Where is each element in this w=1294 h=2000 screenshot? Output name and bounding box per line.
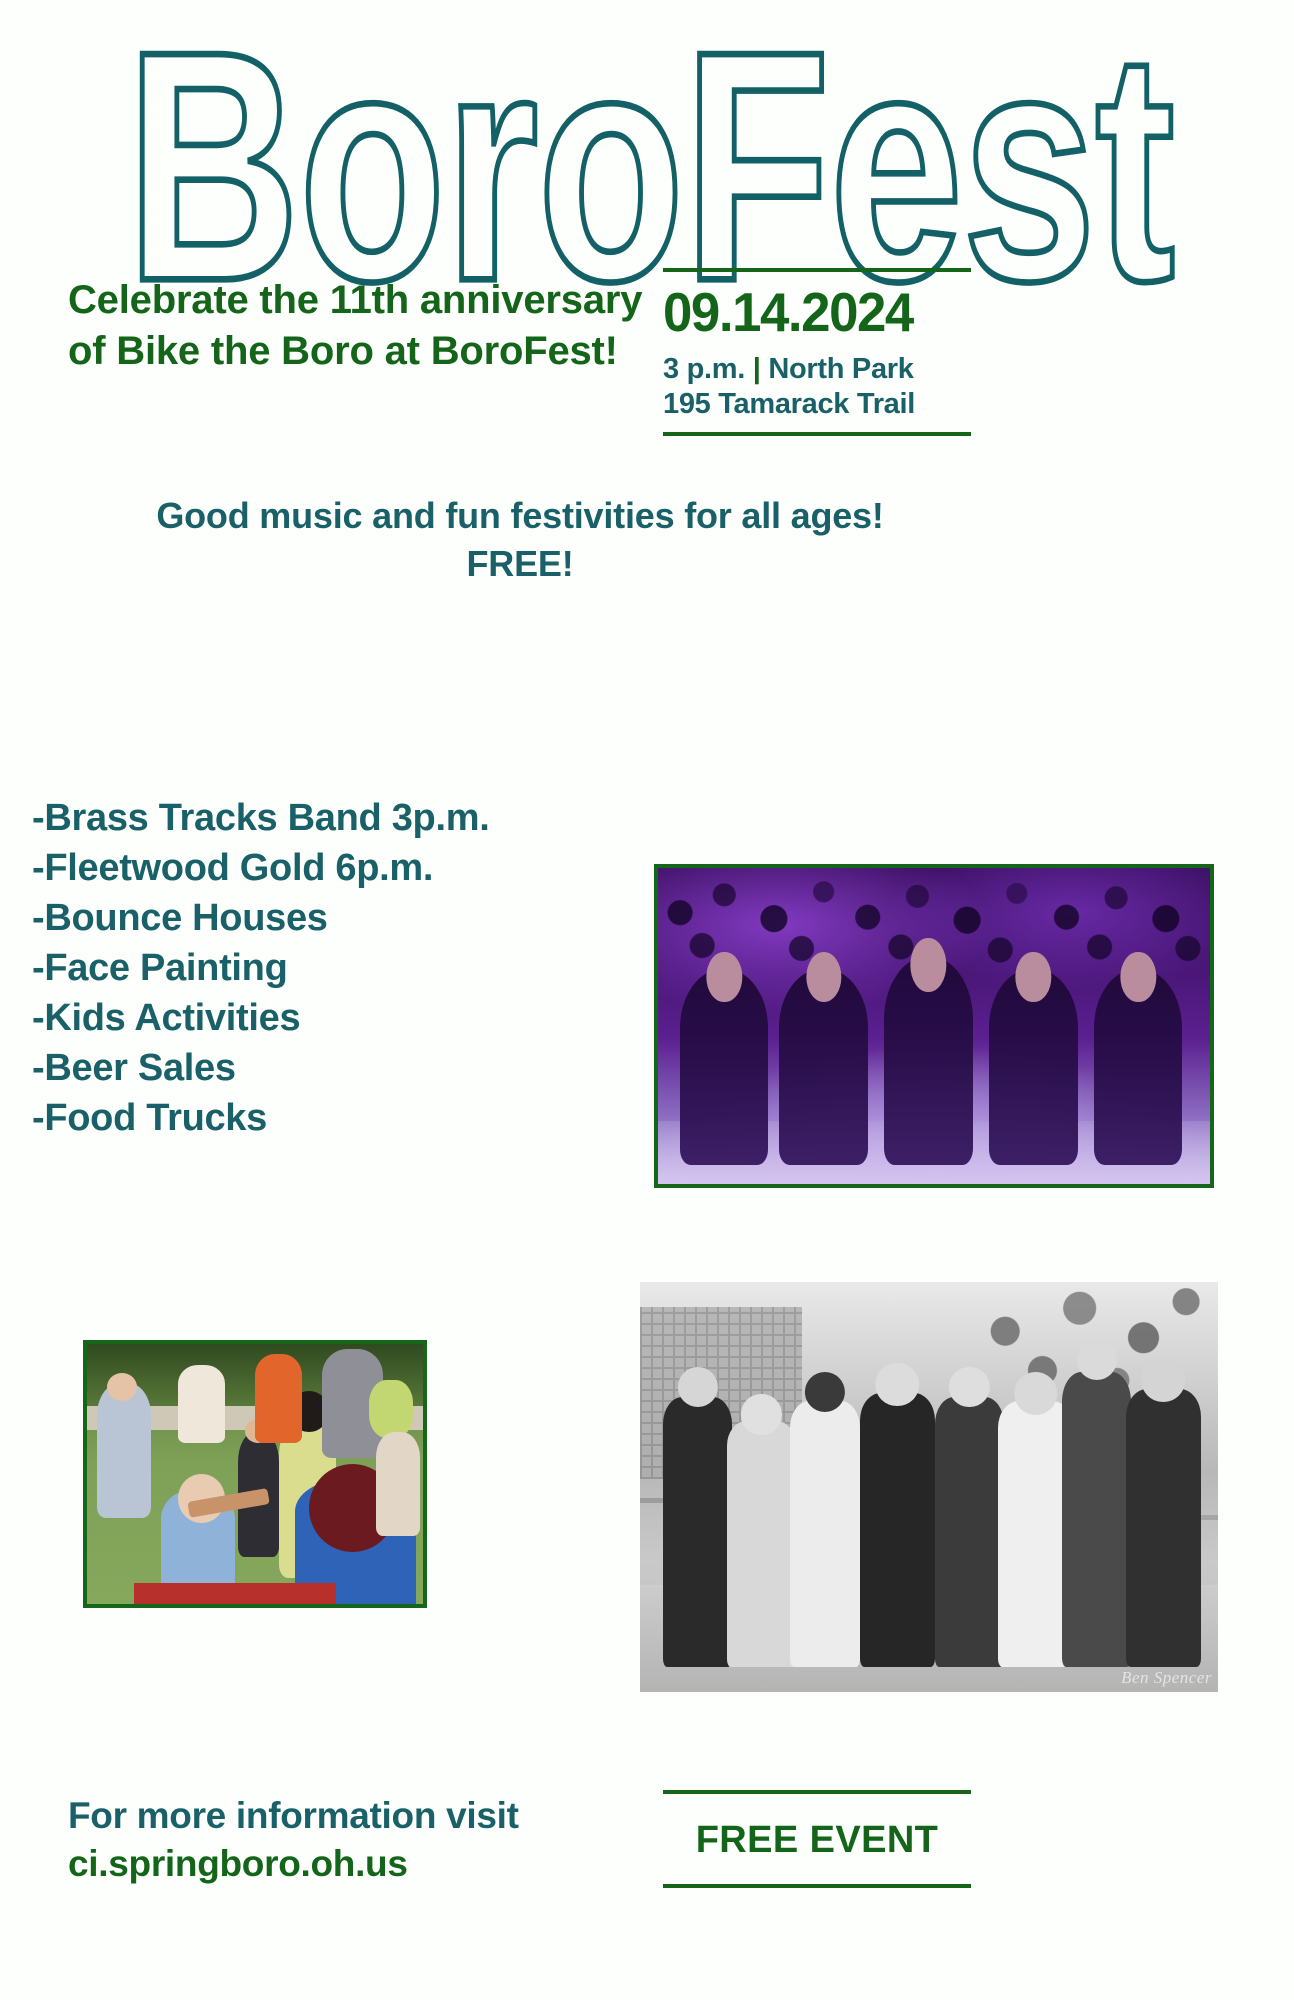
photo-face-painting — [83, 1340, 427, 1608]
toddler — [369, 1380, 413, 1437]
band-member — [1062, 1372, 1131, 1667]
list-item: -Brass Tracks Band 3p.m. — [32, 793, 552, 843]
band-member — [884, 957, 972, 1166]
list-item: -Beer Sales — [32, 1043, 552, 1093]
band-member-head — [1077, 1340, 1117, 1380]
band-member-head — [741, 1394, 781, 1434]
band-member — [727, 1421, 796, 1667]
photo-brass-tracks-band: Ben Spencer — [640, 1282, 1218, 1692]
event-venue: North Park — [768, 353, 913, 385]
festival-attendee — [97, 1383, 151, 1518]
footer-website-link[interactable]: ci.springboro.oh.us — [68, 1840, 608, 1888]
date-rule-top — [663, 268, 971, 272]
list-item: -Food Trucks — [32, 1093, 552, 1143]
tagline-line-2: FREE! — [70, 540, 970, 588]
band-member — [989, 969, 1077, 1165]
free-event-rule-top — [663, 1790, 971, 1794]
photographer-watermark: Ben Spencer — [1121, 1668, 1212, 1688]
festival-table — [178, 1365, 225, 1443]
footer-info: For more information visit ci.springboro… — [68, 1792, 608, 1888]
band-member-head — [875, 1363, 919, 1407]
band-member — [935, 1397, 1004, 1668]
free-event-rule-bottom — [663, 1884, 971, 1888]
list-item: -Bounce Houses — [32, 893, 552, 943]
band-member — [1126, 1389, 1201, 1668]
list-item: -Face Painting — [32, 943, 552, 993]
band-member-head — [805, 1372, 845, 1412]
photo-fleetwood-gold-band — [654, 864, 1214, 1188]
free-event-badge: FREE EVENT — [663, 1790, 971, 1888]
footer-info-label: For more information visit — [68, 1792, 608, 1840]
event-time: 3 p.m. — [663, 353, 745, 385]
date-rule-bottom — [663, 432, 971, 436]
borofest-poster: BoroFest Celebrate the 11th anniversary … — [0, 0, 1294, 2000]
poster-title-area: BoroFest — [0, 14, 1294, 229]
page-title: BoroFest — [120, 14, 1174, 318]
list-item: -Fleetwood Gold 6p.m. — [32, 843, 552, 893]
band-member — [860, 1393, 935, 1668]
painting-table — [134, 1583, 336, 1604]
headline-text: Celebrate the 11th anniversary of Bike t… — [68, 275, 643, 377]
child-painted-face — [376, 1432, 420, 1536]
band-member — [790, 1401, 859, 1668]
free-event-label: FREE EVENT — [663, 1816, 971, 1864]
tagline: Good music and fun festivities for all a… — [70, 492, 970, 588]
adult-orange-shirt — [255, 1354, 302, 1442]
band-member-head — [1141, 1358, 1185, 1402]
event-address: 195 Tamarack Trail — [663, 385, 971, 423]
separator-pipe: | — [753, 353, 761, 385]
event-date: 09.14.2024 — [663, 281, 959, 344]
event-details-block: 09.14.2024 3 p.m. | North Park 195 Tamar… — [663, 268, 971, 436]
list-item: -Kids Activities — [32, 993, 552, 1043]
band-member — [680, 969, 768, 1165]
band-member-head — [678, 1367, 718, 1407]
event-time-venue: 3 p.m. | North Park — [663, 350, 971, 388]
tagline-line-1: Good music and fun festivities for all a… — [70, 492, 970, 540]
band-member-head — [949, 1367, 989, 1407]
band-member — [1094, 969, 1182, 1165]
band-member — [779, 969, 867, 1165]
band-member-head — [1014, 1372, 1058, 1416]
feature-list: -Brass Tracks Band 3p.m. -Fleetwood Gold… — [32, 793, 552, 1143]
band-member — [663, 1397, 732, 1668]
